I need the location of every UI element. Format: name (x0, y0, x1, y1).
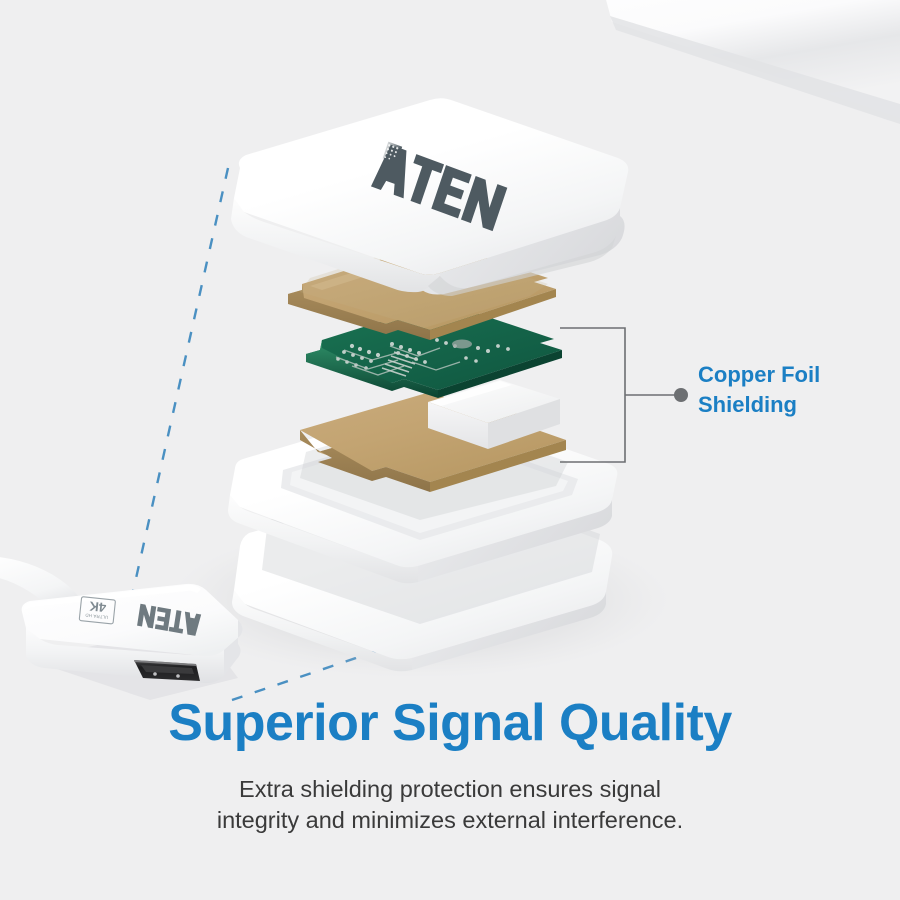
4k-badge-text: 4K (88, 598, 107, 615)
callout-line-1: Copper Foil (698, 360, 898, 390)
callout-label: Copper Foil Shielding (698, 360, 898, 419)
subcopy-line-2: integrity and minimizes external interfe… (150, 805, 750, 836)
headline: Superior Signal Quality (0, 696, 900, 751)
callout-line-2: Shielding (698, 390, 898, 420)
adapter-device: ULTRA HD 4K (0, 0, 900, 900)
subcopy: Extra shielding protection ensures signa… (150, 774, 750, 836)
subcopy-line-1: Extra shielding protection ensures signa… (150, 774, 750, 805)
product-hero-image: ULTRA HD 4K Copper Foil Shielding Superi… (0, 0, 900, 900)
